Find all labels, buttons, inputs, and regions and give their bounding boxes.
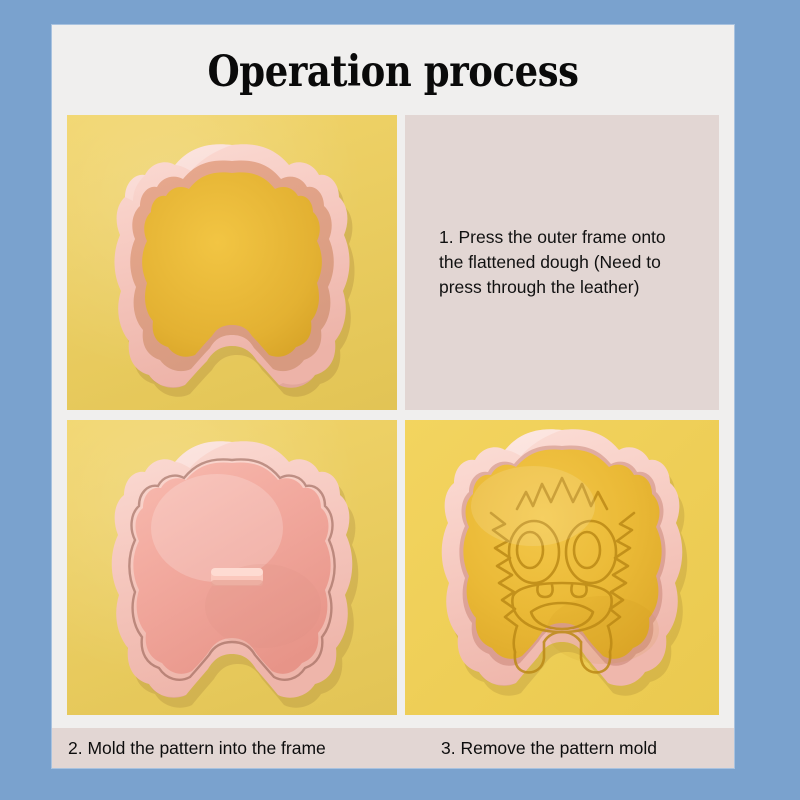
caption-band: 2. Mold the pattern into the frame 3. Re… [52,728,734,768]
photo-canvas-2 [67,420,397,715]
monster-cookie-illustration [405,420,719,715]
page-title: Operation process [100,47,687,97]
page-root: Operation process [0,0,800,800]
pattern-in-frame-illustration [67,420,397,715]
step-1-text-panel: 1. Press the outer frame onto the flatte… [405,115,719,410]
photo-pattern-in-frame [67,420,397,715]
grip-tab [211,568,263,586]
photo-outer-frame [67,115,397,410]
caption-step-2: 2. Mold the pattern into the frame [68,738,326,759]
caption-step-3: 3. Remove the pattern mold [441,738,657,759]
photo-canvas-3 [405,420,719,715]
step-1-text: 1. Press the outer frame onto the flatte… [439,225,689,300]
outer-frame-illustration [67,115,397,410]
step-1-text-container: 1. Press the outer frame onto the flatte… [405,115,719,410]
photo-canvas-1 [67,115,397,410]
content-card: Operation process [52,25,734,768]
photo-monster-result [405,420,719,715]
